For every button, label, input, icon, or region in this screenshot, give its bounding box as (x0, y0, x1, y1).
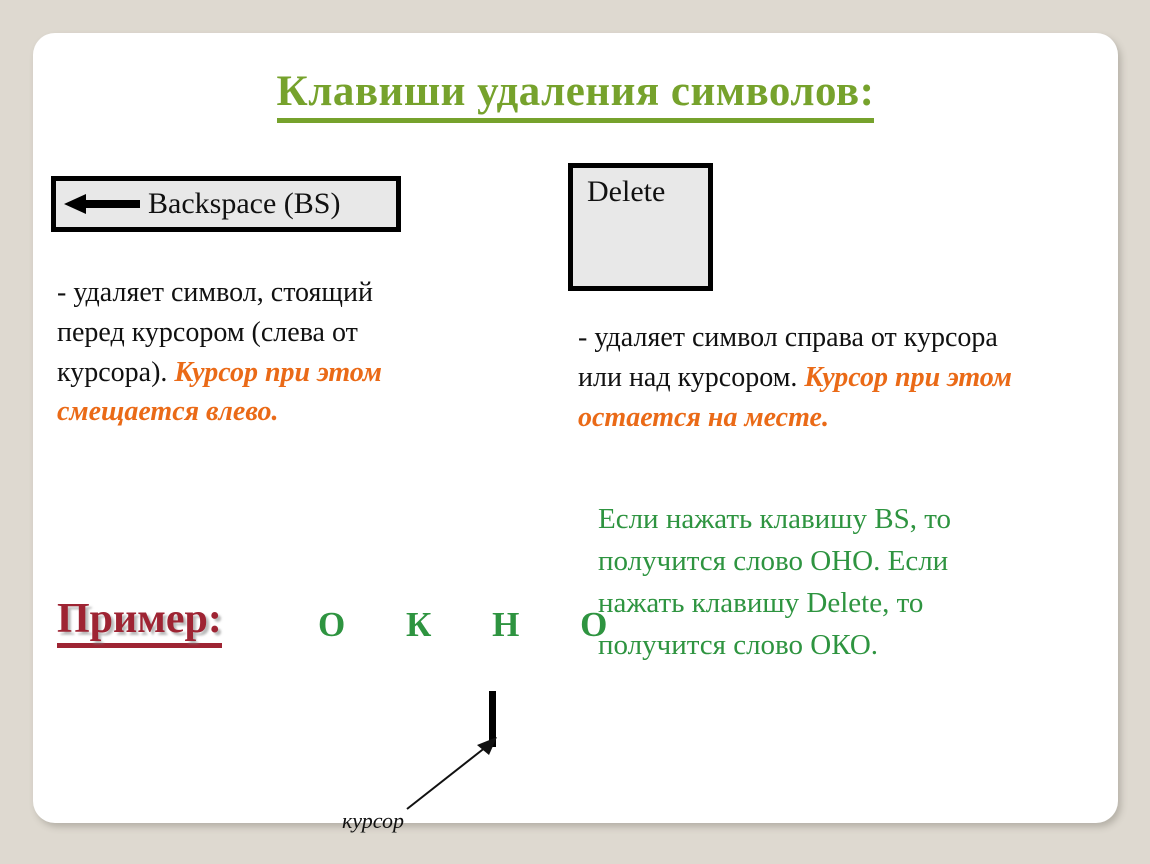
page-title: Клавиши удаления символов: (33, 67, 1118, 116)
example-word: О К Н О (318, 605, 633, 645)
page-title-text: Клавиши удаления символов: (277, 68, 875, 123)
left-arrow-icon (64, 193, 140, 215)
example-label-text: Пример: (57, 596, 222, 648)
delete-key-box[interactable]: Delete (568, 163, 713, 291)
backspace-description: - удаляет символ, стоящий перед курсором… (57, 273, 417, 432)
delete-description: - удаляет символ справа от курсора или н… (578, 318, 1023, 437)
arrow-pointer-icon (403, 733, 503, 813)
example-label: Пример: (57, 595, 222, 643)
backspace-key-box[interactable]: Backspace (BS) (51, 176, 401, 232)
backspace-key-label: Backspace (BS) (148, 187, 340, 221)
example-note: Если нажать клавишу BS, то получится сло… (598, 498, 988, 666)
slide-card: Клавиши удаления символов: Backspace (BS… (33, 33, 1118, 823)
delete-key-label: Delete (587, 177, 708, 207)
cursor-caption: курсор (342, 808, 404, 834)
